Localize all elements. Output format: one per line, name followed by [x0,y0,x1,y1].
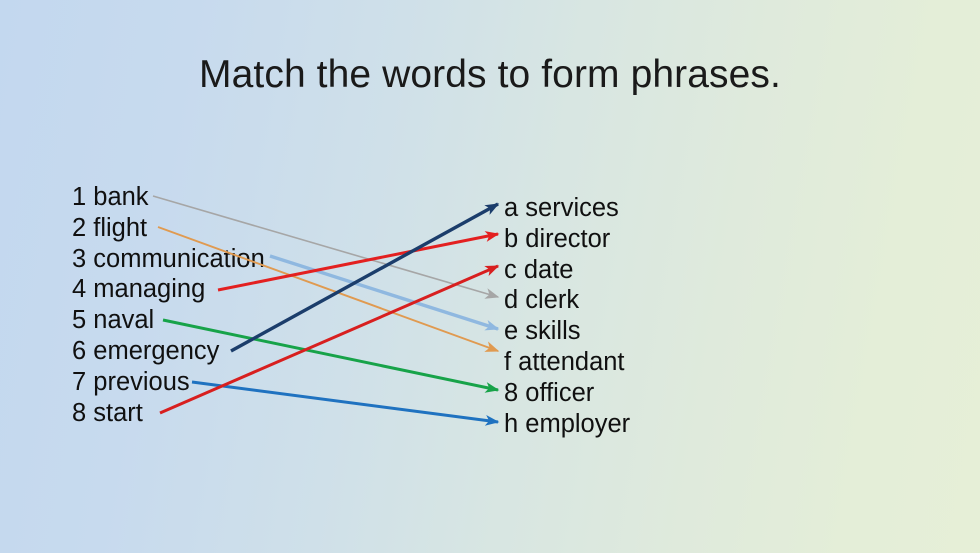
list-item-right-h[interactable]: h employer [504,409,630,440]
list-item-right-d[interactable]: d clerk [504,285,630,316]
page-title: Match the words to form phrases. [0,53,980,97]
list-item-right-c[interactable]: c date [504,255,630,286]
list-item-left-1[interactable]: 1 bank [72,182,265,213]
list-item-left-7[interactable]: 7 previous [72,367,265,398]
list-item-right-g[interactable]: 8 officer [504,378,630,409]
list-item-left-6[interactable]: 6 emergency [72,336,265,367]
connector-communication-to-skills [270,256,498,329]
list-item-left-3[interactable]: 3 communication [72,244,265,275]
list-item-right-f[interactable]: f attendant [504,347,630,378]
list-item-right-e[interactable]: e skills [504,316,630,347]
list-item-left-2[interactable]: 2 flight [72,213,265,244]
list-item-left-8[interactable]: 8 start [72,398,265,429]
right-word-column: a services b director c date d clerk e s… [504,193,630,439]
list-item-left-4[interactable]: 4 managing [72,274,265,305]
list-item-right-a[interactable]: a services [504,193,630,224]
slide-canvas: Match the words to form phrases. 1 bank … [0,0,980,553]
list-item-right-b[interactable]: b director [504,224,630,255]
connector-emergency-to-services [231,204,498,351]
left-word-column: 1 bank 2 flight 3 communication 4 managi… [72,182,265,428]
list-item-left-5[interactable]: 5 naval [72,305,265,336]
